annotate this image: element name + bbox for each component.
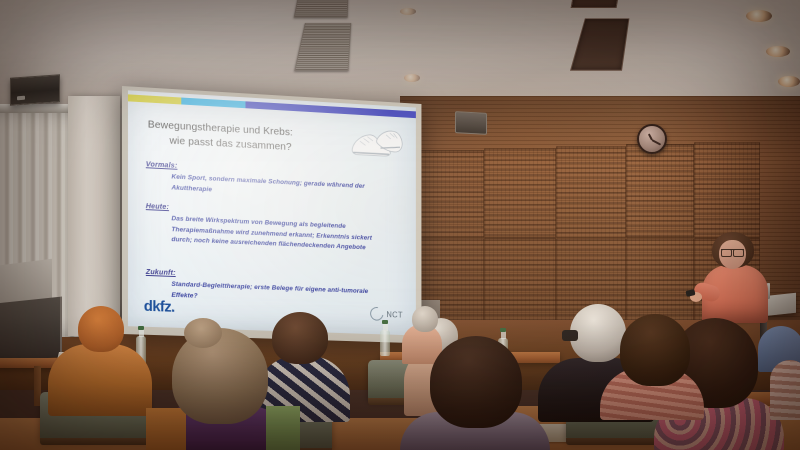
glasses-icon [721, 249, 744, 255]
slide-heading-vormals: Vormals: [146, 159, 178, 170]
acoustic-panel [626, 144, 694, 238]
acoustic-panel [484, 238, 556, 326]
attendee-head [620, 314, 690, 386]
clock-minute-hand [652, 139, 662, 145]
acoustic-panel [694, 142, 760, 238]
color-bar-cyan [181, 98, 245, 109]
ceiling-vent-icon [294, 23, 351, 71]
slide-body-heute: Das breite Wirkspektrum von Bewegung als… [171, 214, 378, 254]
attendee-head [412, 306, 438, 332]
ceiling-speaker-icon [10, 74, 60, 105]
lecture-hall-photo: Bewegungstherapie und Krebs: wie passt d… [0, 0, 800, 450]
ceiling-vent-icon [294, 0, 349, 18]
attendee-head [78, 306, 124, 352]
attendee-head [172, 328, 268, 424]
wall-board-dark [0, 297, 62, 364]
slide-heading-zukunft: Zukunft: [146, 267, 176, 277]
attendee-head [570, 304, 626, 362]
slide-body-vormals: Kein Sport, sondern maximale Schonung; g… [171, 172, 374, 203]
ceiling-panel-dark [571, 0, 620, 8]
color-bar-yellow [128, 94, 181, 104]
color-bar-blue [246, 101, 416, 118]
dkfz-logo: dkfz. [144, 298, 175, 316]
downlight-icon [404, 74, 420, 82]
acoustic-panel [556, 146, 626, 238]
downlight-icon [400, 8, 416, 15]
slide-title: Bewegungstherapie und Krebs: wie passt d… [148, 117, 341, 157]
presentation-slide: Bewegungstherapie und Krebs: wie passt d… [128, 90, 416, 335]
hair-bun-icon [184, 318, 222, 348]
attendee-shoulder-strap [266, 406, 300, 450]
wall-speaker-icon [455, 111, 487, 135]
wall-clock-icon [637, 124, 667, 154]
slide-body-zukunft: Standard-Begleittherapie; erste Belege f… [171, 280, 373, 308]
acoustic-panel [484, 148, 556, 238]
slide-heading-heute: Heute: [146, 201, 169, 211]
slide-title-line2: wie passt das zusammen? [148, 132, 341, 157]
attendee-body [770, 360, 800, 420]
attendee-shoulder-strap [146, 408, 186, 450]
nct-logo-text: NCT [386, 310, 402, 319]
glasses-temple-icon [562, 330, 578, 341]
structural-column [68, 96, 120, 336]
downlight-icon [778, 76, 800, 87]
attendee-head [430, 336, 522, 428]
projection-screen: Bewegungstherapie und Krebs: wie passt d… [122, 86, 421, 343]
running-shoes-icon [349, 123, 407, 165]
acoustic-panel [420, 150, 484, 238]
downlight-icon [766, 46, 790, 57]
downlight-icon [746, 10, 772, 22]
attendee-head [272, 312, 328, 364]
attendee-body [48, 344, 152, 416]
water-bottle [380, 330, 390, 356]
